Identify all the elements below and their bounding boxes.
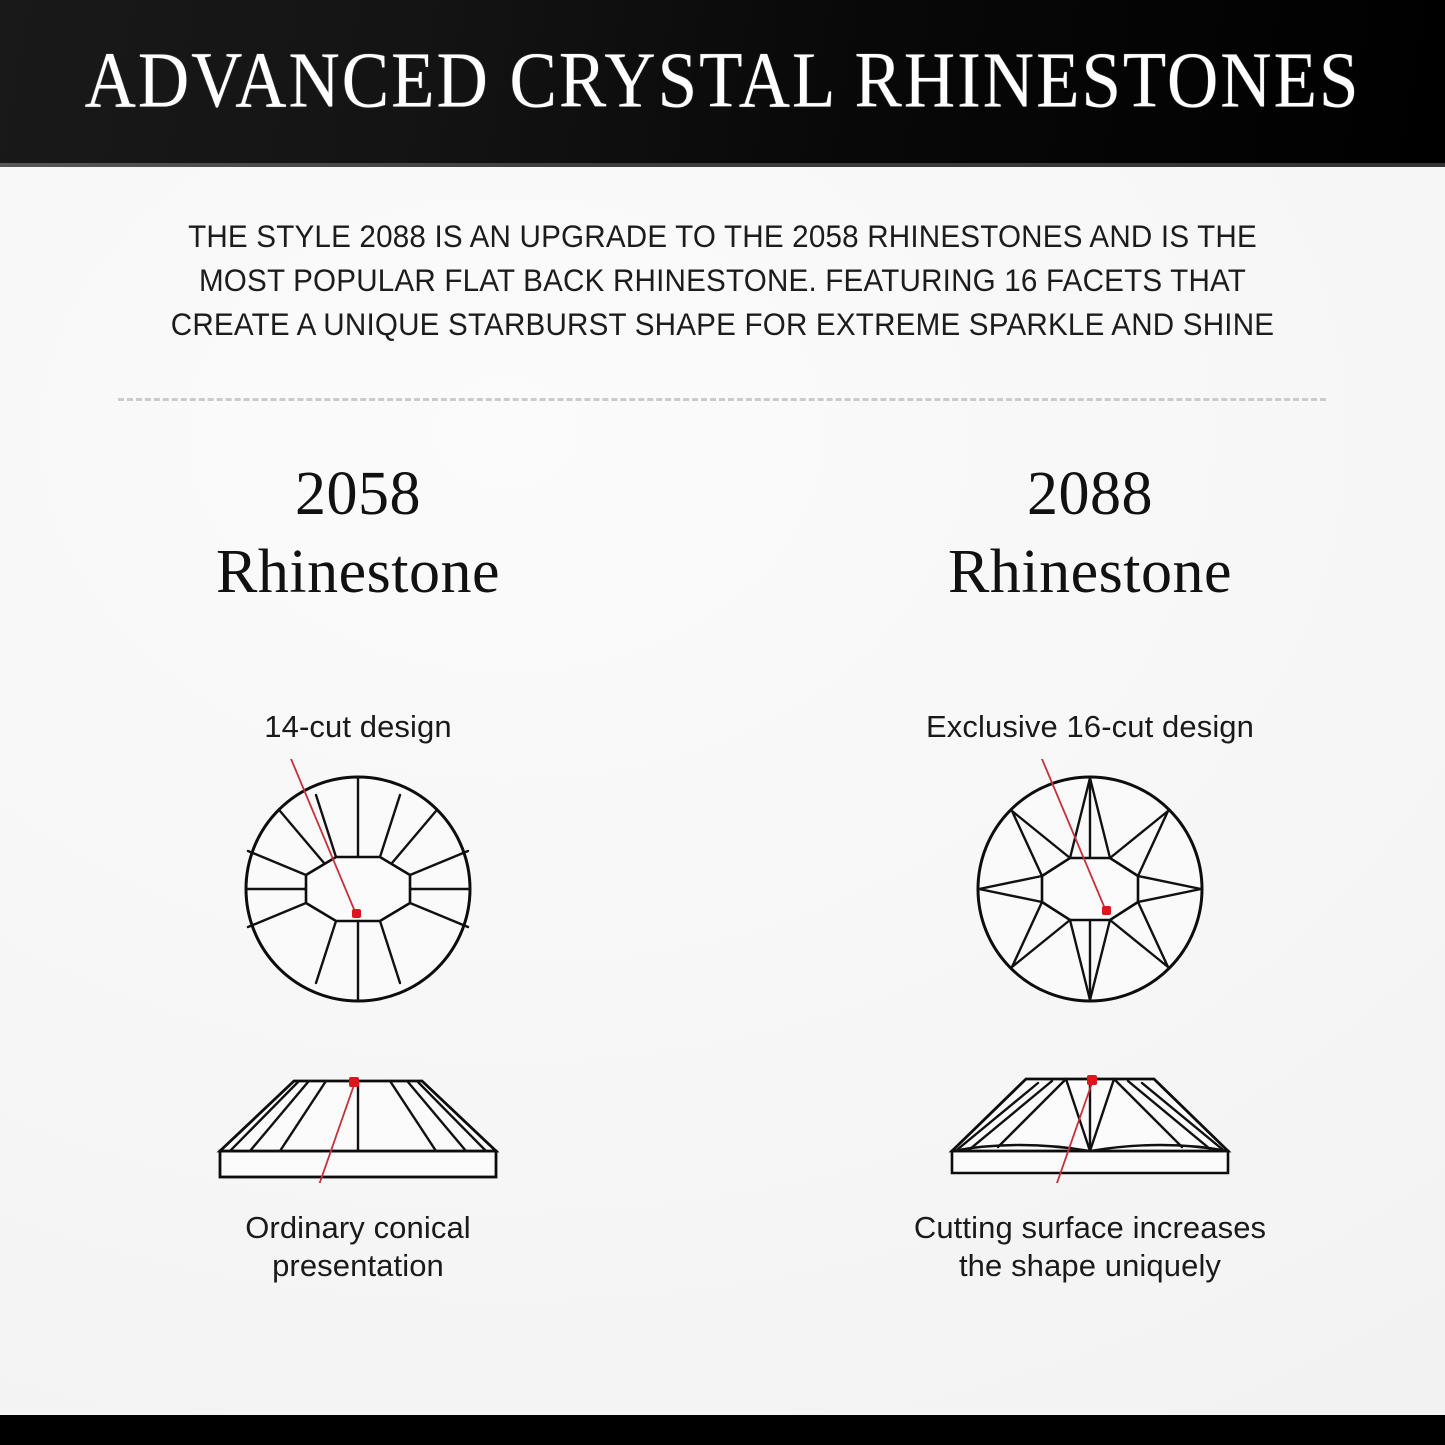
dotted-divider: [118, 398, 1326, 401]
column-2088-number: 2088: [740, 455, 1440, 533]
column-2058-top-annotation: 14-cut design: [8, 709, 708, 745]
column-2058-figures: [8, 759, 708, 1183]
intro-paragraph: THE STYLE 2088 IS AN UPGRADE TO THE 2058…: [147, 214, 1299, 346]
rhinestone-side-view-conical-icon: [208, 1063, 508, 1183]
footer-bar: [0, 1415, 1445, 1445]
intro-line-1: THE STYLE 2088 IS AN UPGRADE TO THE 2058…: [147, 214, 1299, 258]
column-2058-bottom-line-1: Ordinary conical: [8, 1209, 708, 1247]
infographic-page: ADVANCED CRYSTAL RHINESTONES THE STYLE 2…: [0, 0, 1445, 1445]
column-2088-bottom-line-1: Cutting surface increases: [740, 1209, 1440, 1247]
column-2058: 2058 Rhinestone 14-cut design: [8, 455, 708, 1285]
header-underline: [0, 163, 1445, 167]
column-2088-top-annotation: Exclusive 16-cut design: [740, 709, 1440, 745]
column-2058-bottom-annotation: Ordinary conical presentation: [8, 1209, 708, 1285]
column-2058-number: 2058: [8, 455, 708, 533]
intro-line-2: MOST POPULAR FLAT BACK RHINESTONE. FEATU…: [147, 258, 1299, 302]
column-2058-word: Rhinestone: [8, 533, 708, 611]
column-2088-bottom-annotation: Cutting surface increases the shape uniq…: [740, 1209, 1440, 1285]
rhinestone-top-view-14-cut-icon: [228, 759, 488, 1019]
column-2058-title: 2058 Rhinestone: [8, 455, 708, 611]
column-2088-title: 2088 Rhinestone: [740, 455, 1440, 611]
rhinestone-top-view-16-cut-starburst-icon: [960, 759, 1220, 1019]
column-2088-figures: [740, 759, 1440, 1183]
page-header: ADVANCED CRYSTAL RHINESTONES: [0, 0, 1445, 163]
column-2088: 2088 Rhinestone Exclusive 16-cut design: [740, 455, 1440, 1285]
intro-line-3: CREATE A UNIQUE STARBURST SHAPE FOR EXTR…: [147, 302, 1299, 346]
column-2088-bottom-line-2: the shape uniquely: [740, 1247, 1440, 1285]
column-2088-word: Rhinestone: [740, 533, 1440, 611]
column-2058-bottom-line-2: presentation: [8, 1247, 708, 1285]
page-title: ADVANCED CRYSTAL RHINESTONES: [85, 36, 1361, 127]
rhinestone-side-view-starburst-icon: [940, 1063, 1240, 1183]
